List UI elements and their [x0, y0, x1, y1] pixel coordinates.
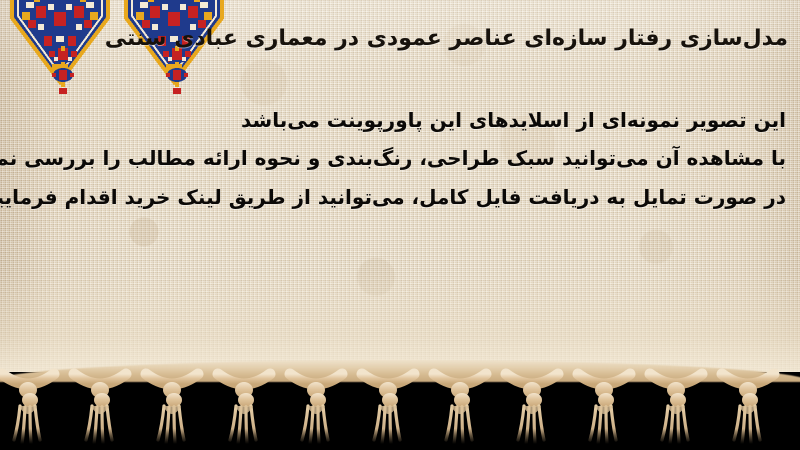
kilim-pendant-drop-icon: [46, 44, 80, 96]
slide-body: این تصویر نمونه‌ای از اسلایدهای این پاور…: [86, 108, 786, 209]
carpet-fringe-zone: [0, 352, 800, 450]
carpet-knotted-fringe-icon: [0, 364, 800, 450]
body-line-3: در صورت تمایل به دریافت فایل کامل، می‌تو…: [86, 185, 786, 209]
body-line-1: این تصویر نمونه‌ای از اسلایدهای این پاور…: [86, 108, 786, 132]
slide-canvas: مدل‌سازی رفتار سازه‌ای عناصر عمودی در مع…: [0, 0, 800, 450]
slide-title: مدل‌سازی رفتار سازه‌ای عناصر عمودی در مع…: [88, 24, 788, 54]
body-line-2: با مشاهده آن می‌توانید سبک طراحی، رنگ‌بن…: [86, 146, 786, 170]
